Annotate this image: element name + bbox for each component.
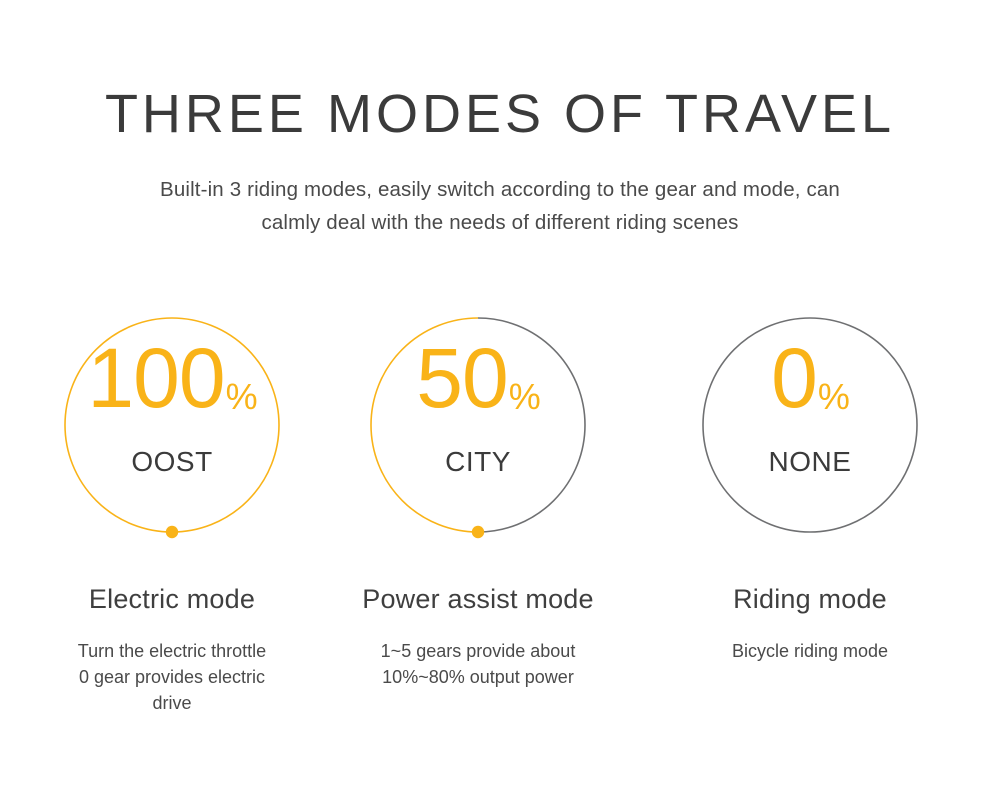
- header: THREE MODES OF TRAVEL Built-in 3 riding …: [0, 86, 1000, 239]
- modes-row: 100% OOST Electric mode Turn the electri…: [0, 300, 1000, 740]
- mode-desc-power-assist: 1~5 gears provide about 10%~80% output p…: [311, 638, 645, 690]
- mode-desc-line: 0 gear provides electric: [5, 664, 339, 690]
- dial-text-power-assist: 50% CITY: [311, 300, 645, 550]
- mode-name-riding: Riding mode: [643, 585, 977, 615]
- dial-percent-symbol-riding: %: [818, 376, 850, 417]
- dial-text-riding: 0% NONE: [643, 300, 977, 550]
- dial-riding: 0% NONE: [643, 300, 977, 550]
- page-subtitle-line-2: calmly deal with the needs of different …: [0, 206, 1000, 239]
- mode-card-power-assist: 50% CITY Power assist mode 1~5 gears pro…: [311, 300, 645, 740]
- mode-card-riding: 0% NONE Riding mode Bicycle riding mode: [643, 300, 977, 740]
- dial-label-power-assist: CITY: [311, 448, 645, 476]
- page-title: THREE MODES OF TRAVEL: [0, 86, 1000, 143]
- dial-number-riding: 0: [771, 331, 817, 425]
- dial-percent-symbol-power-assist: %: [509, 376, 541, 417]
- dial-power-assist: 50% CITY: [311, 300, 645, 550]
- mode-desc-line: 1~5 gears provide about: [311, 638, 645, 664]
- three-modes-infographic: THREE MODES OF TRAVEL Built-in 3 riding …: [0, 0, 1000, 787]
- dial-text-electric: 100% OOST: [5, 300, 339, 550]
- dial-electric: 100% OOST: [5, 300, 339, 550]
- mode-name-electric: Electric mode: [5, 585, 339, 615]
- dial-value-power-assist: 50%: [311, 336, 645, 420]
- dial-value-electric: 100%: [5, 336, 339, 420]
- mode-desc-line: 10%~80% output power: [311, 664, 645, 690]
- mode-desc-line: Turn the electric throttle: [5, 638, 339, 664]
- page-subtitle-line-1: Built-in 3 riding modes, easily switch a…: [0, 173, 1000, 206]
- dial-label-electric: OOST: [5, 448, 339, 476]
- mode-desc-electric: Turn the electric throttle 0 gear provid…: [5, 638, 339, 716]
- mode-desc-line: drive: [5, 690, 339, 716]
- dial-value-riding: 0%: [643, 336, 977, 420]
- mode-name-power-assist: Power assist mode: [311, 585, 645, 615]
- dial-number-electric: 100: [87, 331, 224, 425]
- mode-desc-riding: Bicycle riding mode: [643, 638, 977, 664]
- page-subtitle: Built-in 3 riding modes, easily switch a…: [0, 173, 1000, 239]
- dial-label-riding: NONE: [643, 448, 977, 476]
- mode-desc-line: Bicycle riding mode: [643, 638, 977, 664]
- mode-card-electric: 100% OOST Electric mode Turn the electri…: [5, 300, 339, 740]
- dial-number-power-assist: 50: [416, 331, 507, 425]
- dial-percent-symbol-electric: %: [226, 376, 258, 417]
